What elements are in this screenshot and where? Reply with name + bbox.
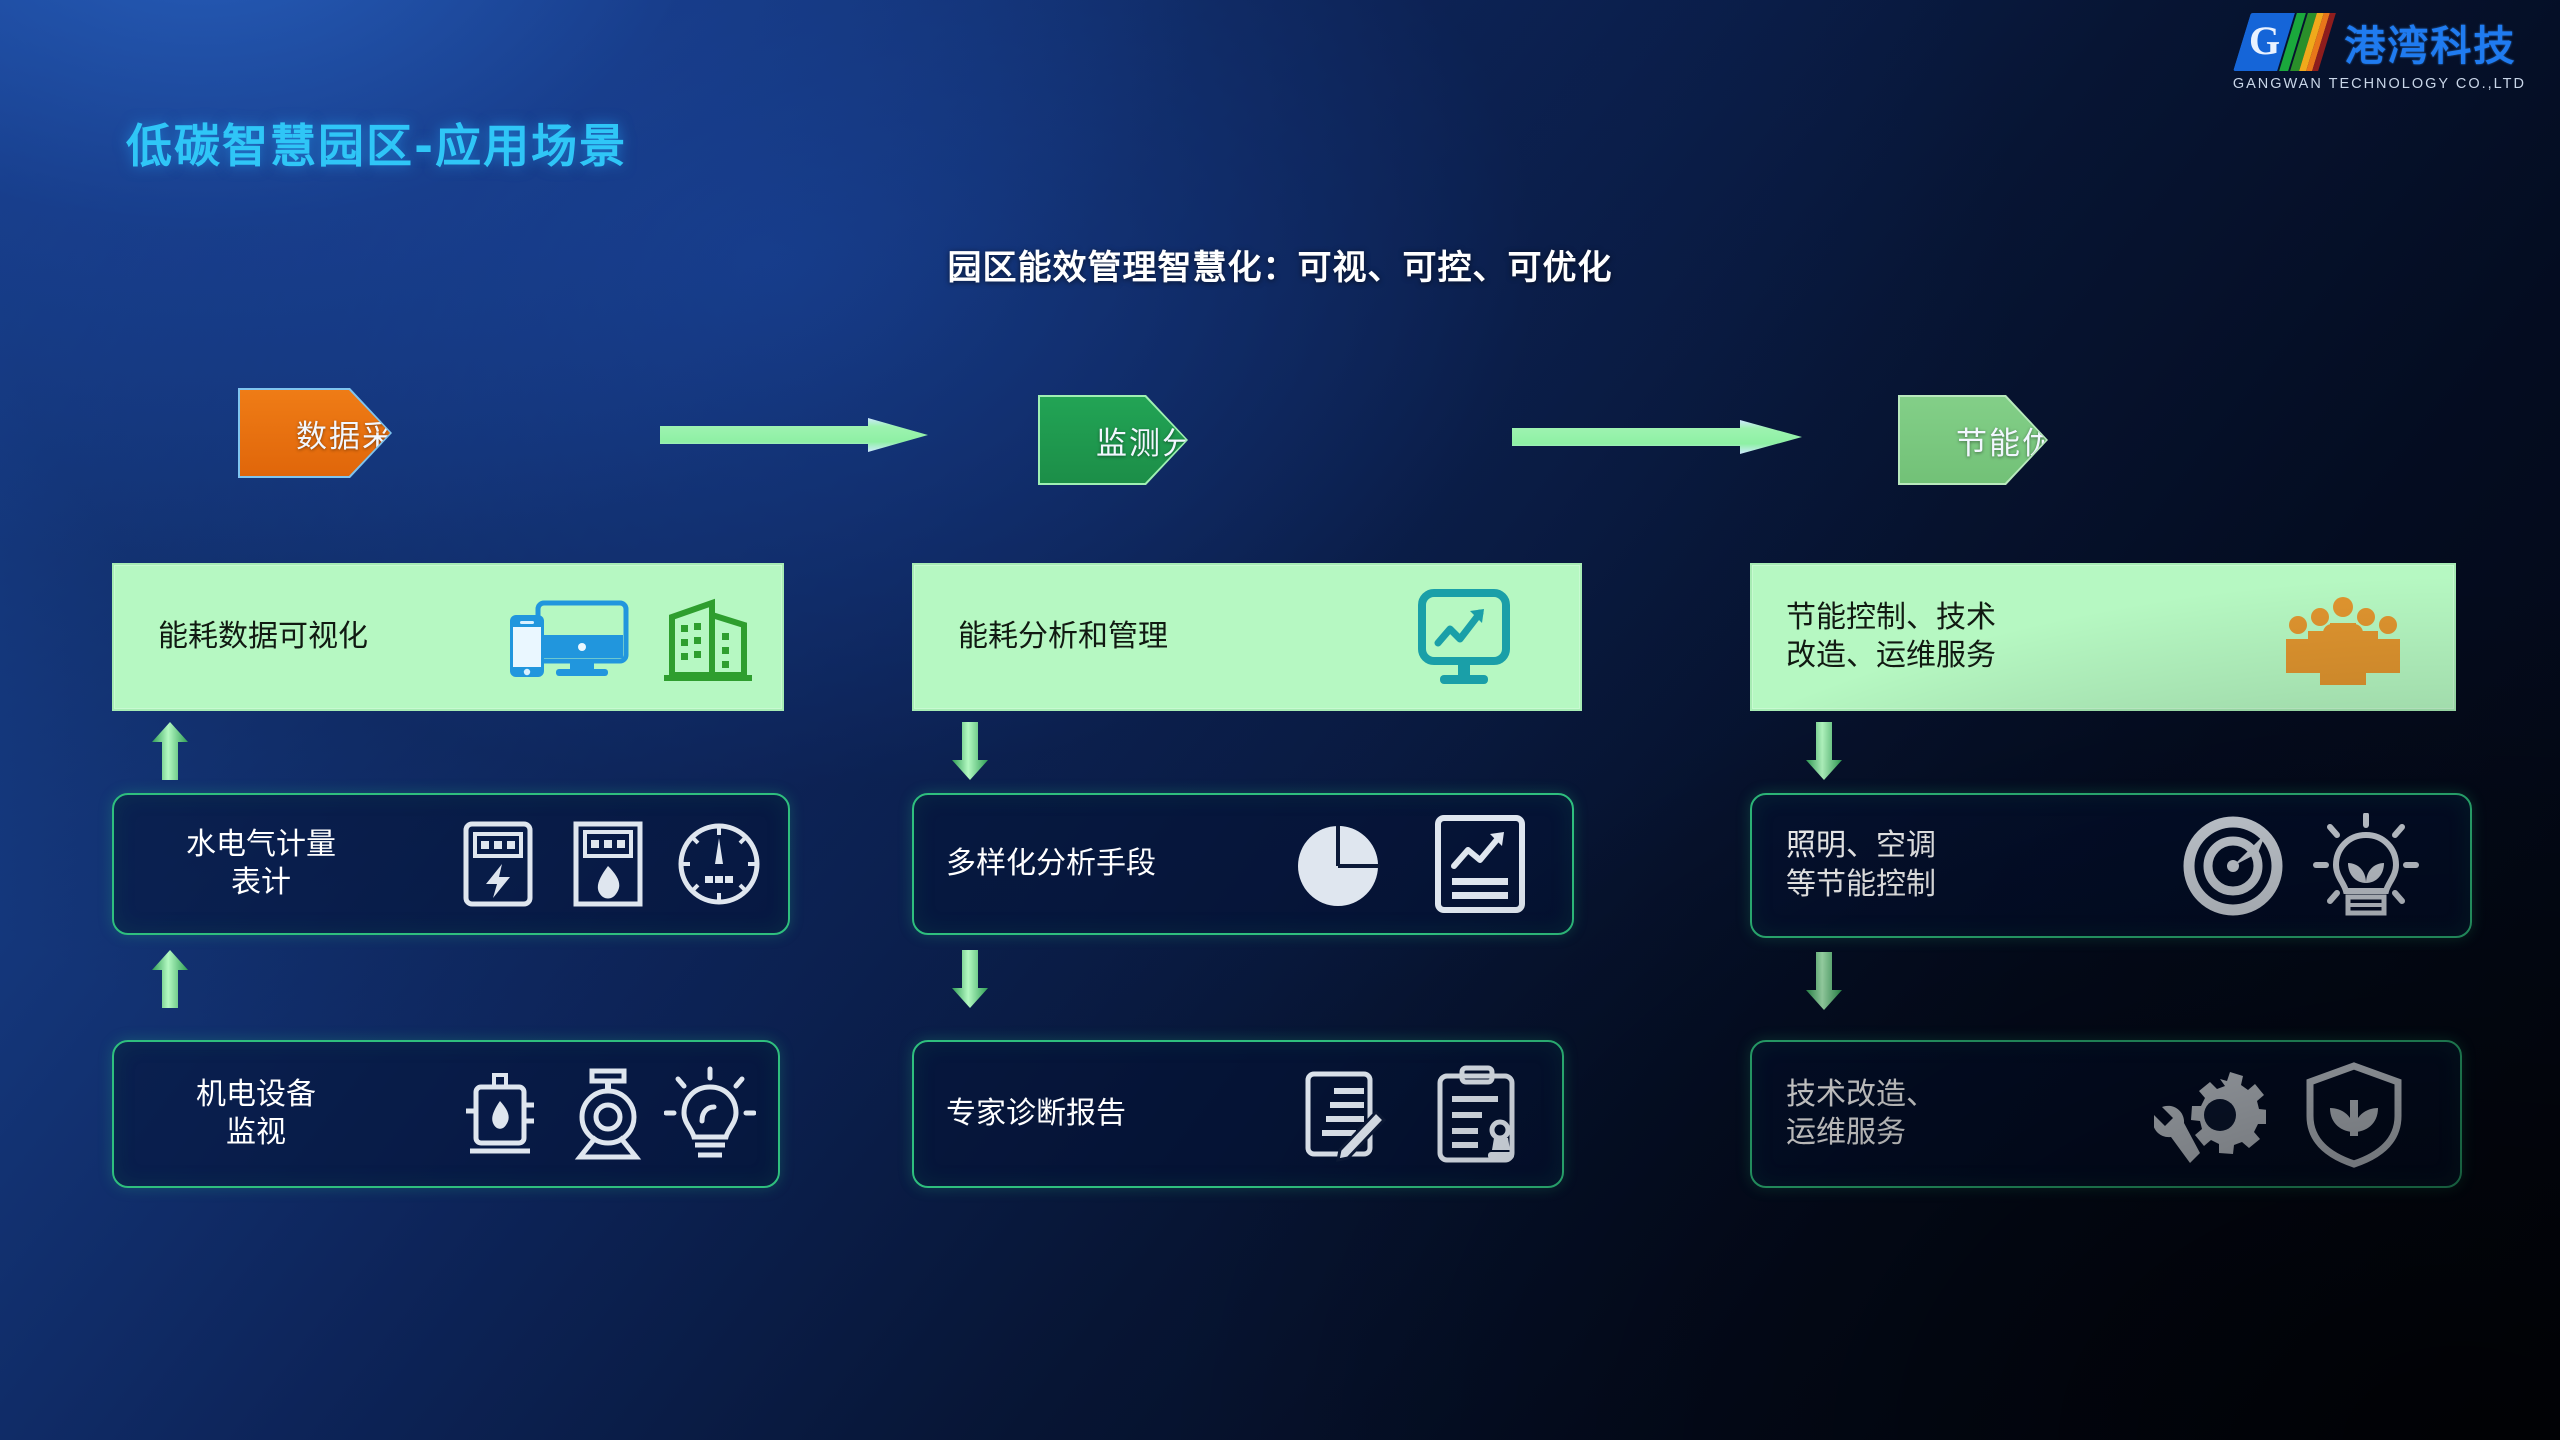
card-energy-analysis-label: 能耗分析和管理: [958, 618, 1168, 656]
card-analysis-methods-label: 多样化分析手段: [946, 845, 1156, 883]
card-retrofit-ops[interactable]: 技术改造、 运维服务: [1750, 1040, 2462, 1188]
flow-stage-3-label: 节能优化运维: [1900, 418, 2154, 463]
flow-stage-3[interactable]: 节能优化运维: [1898, 395, 2048, 485]
card-retrofit-ops-label: 技术改造、 运维服务: [1786, 1076, 1936, 1153]
card-energy-visualization[interactable]: 能耗数据可视化: [112, 563, 784, 711]
card-lighting-hvac-control-label: 照明、空调 等节能控制: [1786, 827, 1936, 904]
flow-stage-1[interactable]: 数据采集监视: [238, 388, 392, 478]
chart-report-icon: [1428, 812, 1532, 916]
page-title: 低碳智慧园区-应用场景: [126, 110, 627, 176]
phone-monitor-icon: [508, 591, 638, 683]
card-energy-analysis[interactable]: 能耗分析和管理: [912, 563, 1582, 711]
bulb-icon: [664, 1065, 756, 1163]
page-subtitle: 园区能效管理智慧化：可视、可控、可优化: [0, 240, 2560, 289]
card-saving-control-services-label: 节能控制、技术 改造、运维服务: [1786, 599, 1996, 676]
gangwan-logo-icon: G: [2234, 13, 2340, 71]
people-group-icon: [2282, 589, 2404, 685]
column-1-arrow-up-2: [152, 950, 188, 1008]
flow-stage-1-label: 数据采集监视: [240, 411, 494, 456]
gear-wrench-icon: [2154, 1061, 2266, 1167]
connector-arrow-2: [1512, 420, 1802, 454]
clipboard-stamp-icon: [1424, 1062, 1528, 1166]
gas-meter-icon: [566, 818, 650, 910]
eco-bulb-icon: [2310, 813, 2422, 919]
card-utility-meters[interactable]: 水电气计量 表计: [112, 793, 790, 935]
building-icon: [660, 591, 756, 683]
logo-name-cn: 港湾科技: [2344, 12, 2516, 72]
column-3-arrow-down-1: [1806, 722, 1842, 780]
electric-meter-icon: [456, 818, 540, 910]
column-2-arrow-down-1: [952, 722, 988, 780]
logo-letter-g: G: [2248, 18, 2281, 66]
brand-logo: G 港湾科技 GANGWAN TECHNOLOGY CO.,LTD: [2233, 12, 2526, 92]
connector-arrow-1: [660, 418, 928, 452]
column-2-arrow-down-2: [952, 950, 988, 1008]
boiler-icon: [454, 1065, 546, 1163]
card-energy-visualization-label: 能耗数据可视化: [158, 618, 368, 656]
column-3-arrow-down-2: [1806, 952, 1842, 1010]
card-equipment-monitoring[interactable]: 机电设备 监视: [112, 1040, 780, 1188]
card-equipment-monitoring-label: 机电设备 监视: [146, 1076, 366, 1153]
flow-stage-2-label: 监测分析诊断: [1040, 418, 1294, 463]
shield-sprout-icon: [2302, 1060, 2406, 1168]
flow-stage-2[interactable]: 监测分析诊断: [1038, 395, 1188, 485]
card-expert-report-label: 专家诊断报告: [946, 1095, 1126, 1133]
gauge-target-icon: [2180, 813, 2286, 919]
slide-canvas: G 港湾科技 GANGWAN TECHNOLOGY CO.,LTD 低碳智慧园区…: [0, 0, 2560, 1440]
card-analysis-methods[interactable]: 多样化分析手段: [912, 793, 1574, 935]
pump-icon: [562, 1065, 654, 1163]
logo-name-en: GANGWAN TECHNOLOGY CO.,LTD: [2233, 76, 2526, 92]
pie-chart-icon: [1288, 814, 1388, 914]
document-pencil-icon: [1288, 1062, 1392, 1166]
card-utility-meters-label: 水电气计量 表计: [146, 826, 376, 903]
card-expert-report[interactable]: 专家诊断报告: [912, 1040, 1564, 1188]
water-meter-icon: [676, 818, 762, 910]
monitor-trend-icon: [1410, 585, 1518, 689]
card-saving-control-services[interactable]: 节能控制、技术 改造、运维服务: [1750, 563, 2456, 711]
card-lighting-hvac-control[interactable]: 照明、空调 等节能控制: [1750, 793, 2472, 938]
column-1-arrow-up-1: [152, 722, 188, 780]
